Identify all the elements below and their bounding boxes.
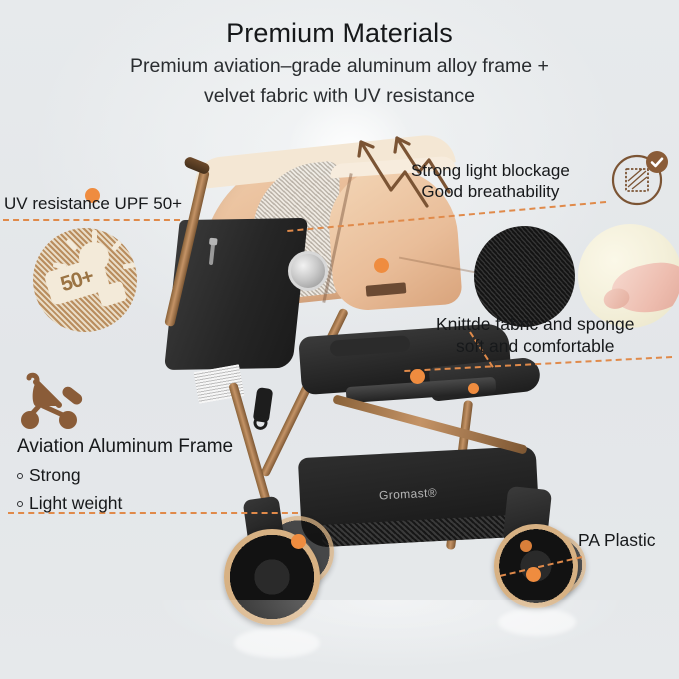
fabric-swatch-check-icon — [609, 146, 671, 208]
callout-light-blockage-line2: Good breathability — [411, 181, 570, 202]
callout-pa-plastic: PA Plastic — [578, 529, 656, 551]
frame-bullet-light-weight: Light weight — [17, 493, 233, 514]
header: Premium Materials Premium aviation–grade… — [0, 18, 679, 109]
callout-knit-fabric-line2: soft and comfortable — [436, 335, 634, 357]
ground-reflection — [150, 600, 630, 670]
page-subtitle-line1: Premium aviation–grade aluminum alloy fr… — [0, 54, 679, 79]
page-title: Premium Materials — [0, 18, 679, 49]
marker-dot-light-blockage — [374, 258, 389, 273]
callout-knit-fabric-line1: Knittde fabric and sponge — [436, 313, 634, 335]
frame-mid-rail — [260, 307, 349, 477]
callout-light-blockage: Strong light blockage Good breathability — [411, 160, 570, 203]
frame-rear-leg — [228, 382, 281, 538]
canopy-brand-tag — [366, 282, 407, 296]
frame-heading: Aviation Aluminum Frame — [17, 436, 233, 458]
marker-dot-frame — [291, 534, 306, 549]
seat-back — [164, 218, 308, 370]
basket-mesh — [322, 515, 513, 547]
marker-dot-sponge — [468, 383, 479, 394]
seat-zipper — [209, 243, 215, 265]
frame-bullet-light-weight-label: Light weight — [29, 493, 122, 514]
marker-dot-pa-plastic — [526, 567, 541, 582]
callout-aviation-frame: Aviation Aluminum Frame Strong Light wei… — [17, 436, 233, 514]
seat-bumper — [330, 335, 411, 357]
care-label-tag — [194, 364, 245, 404]
marker-dot-knit-fabric — [410, 369, 425, 384]
frame-bullet-strong: Strong — [17, 465, 233, 486]
wheel-accent-dot — [520, 540, 532, 552]
leader-line-uv — [3, 219, 180, 221]
stroller-icon — [17, 372, 93, 432]
knit-fabric-swatch — [474, 226, 575, 327]
bullet-marker-icon — [17, 473, 23, 479]
rear-wheel-housing — [243, 496, 286, 553]
frame-handle-grip — [183, 156, 211, 176]
frame-lower-rail — [332, 394, 528, 454]
rear-wheel-inner — [262, 516, 334, 588]
upf-value-label: 50+ — [58, 265, 96, 297]
storage-basket — [298, 446, 540, 548]
frame-bullet-strong-label: Strong — [29, 465, 81, 486]
canopy-hinge — [288, 251, 328, 291]
rear-wheel-reflection — [234, 628, 320, 658]
canopy-seam — [322, 173, 352, 303]
hand-pressing-sponge — [607, 255, 679, 320]
callout-light-blockage-line1: Strong light blockage — [411, 160, 570, 181]
brand-logo: Gromast® — [379, 485, 438, 502]
front-wheel-inner — [524, 534, 586, 596]
callout-uv-resistance: UV resistance UPF 50+ — [4, 193, 182, 214]
bullet-marker-icon — [17, 501, 23, 507]
infographic-page: Premium Materials Premium aviation–grade… — [0, 0, 679, 679]
callout-knit-fabric: Knittde fabric and sponge soft and comfo… — [436, 313, 634, 357]
page-subtitle-line2: velvet fabric with UV resistance — [0, 84, 679, 109]
upf-sun-badge-icon: 50+ — [33, 228, 137, 332]
leader-line-knit-fabric — [404, 356, 672, 372]
leader-line-pa-plastic — [500, 556, 582, 577]
front-wheel-housing-pa-plastic — [502, 486, 552, 552]
front-wheel-reflection — [498, 608, 576, 636]
frame-front-leg — [446, 400, 473, 550]
strap-clip — [253, 387, 274, 423]
